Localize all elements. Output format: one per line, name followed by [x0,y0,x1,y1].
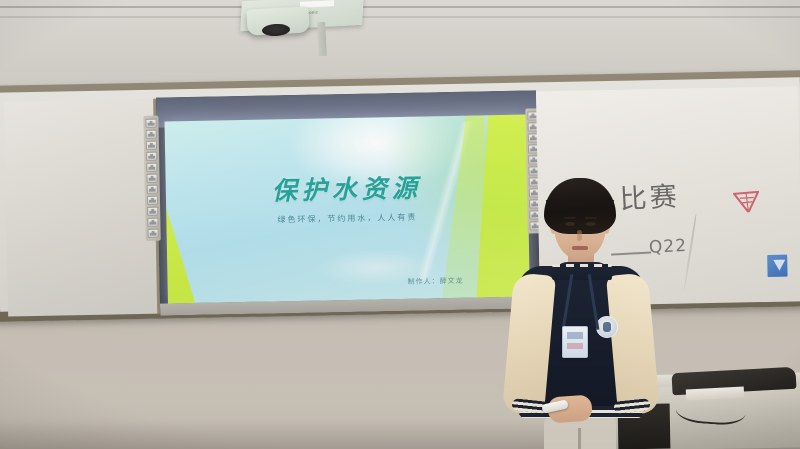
red-triangle-doodle-icon [733,189,762,214]
toolbar-button-icon[interactable] [146,141,157,150]
ceiling-seam [0,16,800,18]
presentation-slide[interactable]: 保护水资源 绿色环保，节约用水，人人有责 制作人：薛文龙 [164,115,529,304]
presenter-eye [565,222,575,226]
ceiling-seam [0,6,800,8]
projector-mount-pole [317,22,327,56]
toolbar-button-icon[interactable] [147,207,158,216]
classroom-photo: Panasonic 保 [0,0,800,449]
board-assembly: 保护水资源 绿色环保，节约用水，人人有责 制作人：薛文龙 [0,70,800,326]
toolbar-button-icon[interactable] [148,229,159,238]
toolbar-button-icon[interactable] [146,130,157,139]
presenter-eyebrow [585,217,597,219]
presenter-eye [586,222,596,226]
presenter-mouth [572,246,588,250]
toolbar-button-icon[interactable] [147,218,158,227]
toolbar-button-icon[interactable] [147,196,158,205]
toolbar-button-icon[interactable] [145,119,156,128]
id-badge [562,326,588,358]
presenter-eyebrow [564,217,576,219]
presenter-leg-seam [578,428,581,449]
blue-sticker-icon [767,255,787,277]
slide-author-credit: 制作人：薛文龙 [408,276,464,287]
smartboard-toolbar-left[interactable] [143,116,160,241]
presenter-nose [577,230,582,241]
projection-screen[interactable]: 保护水资源 绿色环保，节约用水，人人有责 制作人：薛文龙 [156,90,540,315]
left-whiteboard-panel[interactable] [4,99,158,317]
slide-title: 保护水资源 [165,167,528,210]
board-inner-surface: 保护水资源 绿色环保，节约用水，人人有责 制作人：薛文龙 [0,77,800,311]
toolbar-button-icon[interactable] [146,163,157,172]
board-frame: 保护水资源 绿色环保，节约用水，人人有责 制作人：薛文龙 [0,70,800,322]
presenter-collar-stripe [552,264,612,267]
jacket-emblem-icon [596,316,618,338]
student-presenter [500,178,660,449]
toolbar-button-icon[interactable] [147,185,158,194]
toolbar-button-icon[interactable] [146,174,157,183]
toolbar-button-icon[interactable] [146,152,157,161]
water-ripple-graphic [290,240,461,295]
